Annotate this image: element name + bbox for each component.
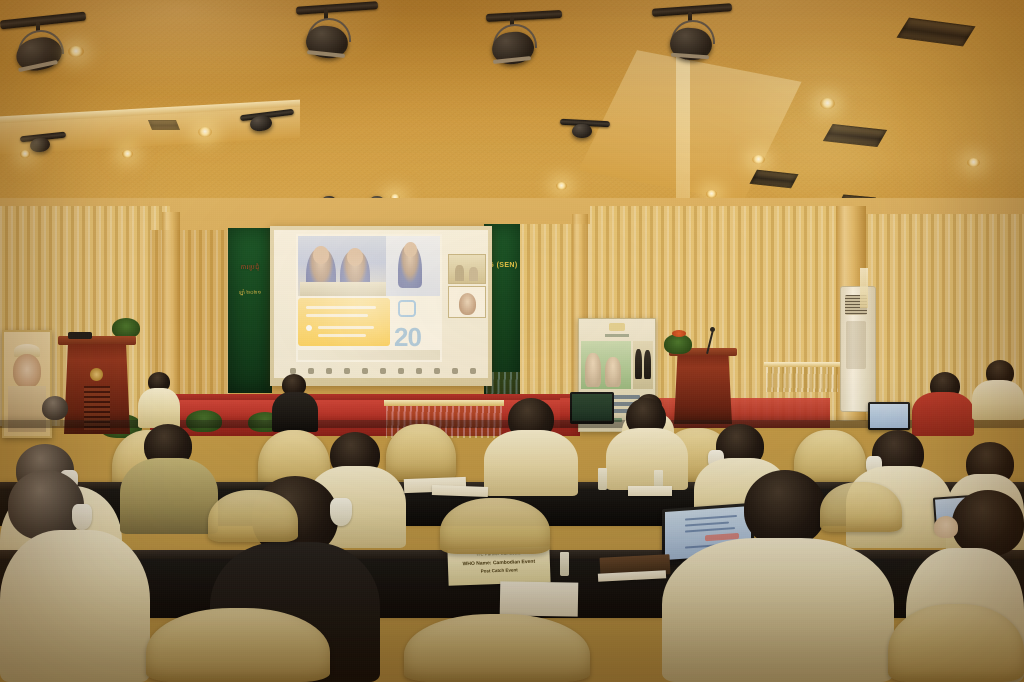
chat-icon[interactable] (344, 368, 350, 374)
downlight-2 (198, 127, 212, 137)
chair-back-3[interactable] (386, 424, 456, 480)
podium-right-body (674, 355, 732, 424)
attendee-body-far-2 (272, 392, 318, 432)
poster-subject-face (13, 354, 41, 388)
wall-light-strip (860, 268, 868, 308)
slide-callout-line-1 (306, 306, 376, 309)
reactions-icon[interactable] (380, 368, 386, 374)
attendee-body-mid-4 (484, 430, 578, 496)
slide-photo-head-2 (347, 248, 363, 266)
attendee-body-front-1 (0, 530, 150, 682)
slide-photo-head-3 (404, 242, 417, 257)
presenter-monitor-screen (572, 394, 612, 421)
slide-callout-line-3 (318, 326, 374, 329)
chair-front-1[interactable] (146, 608, 330, 682)
ac-unit-panel (846, 321, 866, 369)
floor-standing-ac-unit (840, 286, 876, 412)
record-icon[interactable] (416, 368, 422, 374)
rollup-banner-logo (609, 323, 625, 331)
meeting-toolbar (284, 366, 480, 376)
remote-participant-face (459, 293, 476, 315)
attendee-mask-front-2 (330, 498, 352, 526)
stage-spotlight-4 (666, 12, 716, 68)
rollup-banner-tagline (605, 334, 629, 337)
slide-footer-strip (298, 350, 440, 360)
stage-side-table (766, 366, 838, 392)
laptop-back-right-screen (870, 404, 908, 428)
attendee-body-front-3 (662, 538, 894, 682)
remote-participant-person (448, 286, 486, 318)
rollup-banner-photo-2 (633, 341, 653, 389)
water-bottle-1[interactable] (598, 468, 607, 490)
slide-area: 20 (296, 234, 442, 362)
stage-banner-left-headline: ការប្រជុំ (230, 264, 270, 273)
participants-icon[interactable] (362, 368, 368, 374)
downlight-9 (122, 150, 133, 158)
slide-photo (298, 236, 440, 296)
attendee-head-far-3 (42, 396, 68, 420)
slide-big-number: 20 (394, 322, 421, 353)
slide-callout-line-4 (318, 334, 366, 337)
chair-front-4[interactable] (440, 498, 550, 554)
chair-front-3[interactable] (888, 604, 1024, 682)
rollup-photo-person-1 (585, 353, 601, 387)
stage-spotlight-2 (302, 8, 352, 64)
downlight-4 (752, 155, 765, 164)
stage-banner-left: ការប្រជុំ ឡ្នាំ ២០២១ (228, 228, 272, 393)
attendee-body-far-1 (138, 388, 180, 428)
laptop-front-line-2 (685, 522, 729, 527)
attendee-hand-front-4 (934, 516, 958, 538)
downlight-5 (967, 158, 980, 167)
share-icon[interactable] (326, 368, 332, 374)
attendee-body-far-6 (972, 380, 1024, 420)
papers-middle-left-2 (432, 485, 488, 497)
slide-callout-card (298, 298, 390, 346)
attendee-head-front-3 (744, 470, 826, 546)
downlight-6 (706, 190, 717, 198)
ceiling-vent-5 (148, 120, 180, 130)
rollup-banner-photo-1 (581, 341, 631, 389)
name-card-line-2: Post Catch Event (448, 566, 550, 575)
projection-screen-surface: 20 (274, 230, 488, 378)
stage-spotlight-1 (12, 22, 66, 74)
remote-room-figure (455, 265, 464, 281)
downlight-3 (820, 98, 835, 109)
camera-icon[interactable] (308, 368, 314, 374)
podium-right (672, 348, 734, 424)
attendee-body-far-5 (912, 392, 974, 436)
attendee-body-mid-2 (120, 458, 218, 534)
attendee-head-front-4 (952, 490, 1024, 556)
stage-spotlight-3 (488, 16, 538, 72)
slide-callout-line-2 (306, 314, 368, 317)
laptop-front-line-3 (685, 527, 735, 532)
downlight-8 (556, 182, 567, 190)
chair-front-5[interactable] (820, 482, 902, 532)
chair-front-6[interactable] (208, 490, 298, 542)
papers-middle-right (628, 486, 672, 496)
ceiling-soffit-lip-right (676, 55, 690, 211)
conference-room-photograph: ការប្រជុំ ឡ្នាំ ២០២១ G (SEN) (0, 0, 1024, 682)
downlight-1 (68, 46, 84, 57)
attendee-mask-front-1 (72, 504, 92, 530)
stage-banner-left-subline: ឡ្នាំ ២០២១ (230, 290, 270, 297)
slide-badge-icon (398, 300, 416, 317)
stage-side-table-top (764, 362, 840, 367)
podium-left-laptop (68, 332, 92, 339)
rollup-photo-person-4 (644, 350, 651, 379)
projection-screen: 20 (270, 226, 492, 386)
decorative-plant-4 (112, 318, 140, 338)
stage-head-table-top (384, 400, 504, 406)
rollup-photo-person-2 (605, 357, 621, 387)
podium-flower-arrangement (664, 334, 692, 354)
slide-photo-head-1 (313, 246, 329, 264)
stage-spotlight-7 (572, 124, 592, 138)
apps-icon[interactable] (398, 368, 404, 374)
remote-participant-room (448, 254, 486, 284)
papers-front-center (500, 581, 579, 616)
podium-flower-blooms (672, 330, 686, 337)
slide-callout-bullet (306, 325, 312, 331)
water-bottle-3[interactable] (560, 552, 569, 576)
attendee-body-mid-5 (606, 428, 688, 490)
view-icon[interactable] (434, 368, 440, 374)
rollup-photo-person-3 (635, 349, 642, 379)
laptop-front-line-1 (685, 515, 737, 521)
leave-icon[interactable] (470, 368, 476, 374)
podium-left-emblem (90, 368, 103, 381)
podium-microphone-head (710, 327, 715, 332)
remote-room-figure-2 (469, 267, 478, 281)
more-icon[interactable] (452, 368, 458, 374)
slide-photo-table (300, 282, 386, 296)
chair-front-2[interactable] (404, 614, 590, 682)
downlight-10 (20, 150, 30, 158)
laptop-back-right (868, 402, 910, 430)
